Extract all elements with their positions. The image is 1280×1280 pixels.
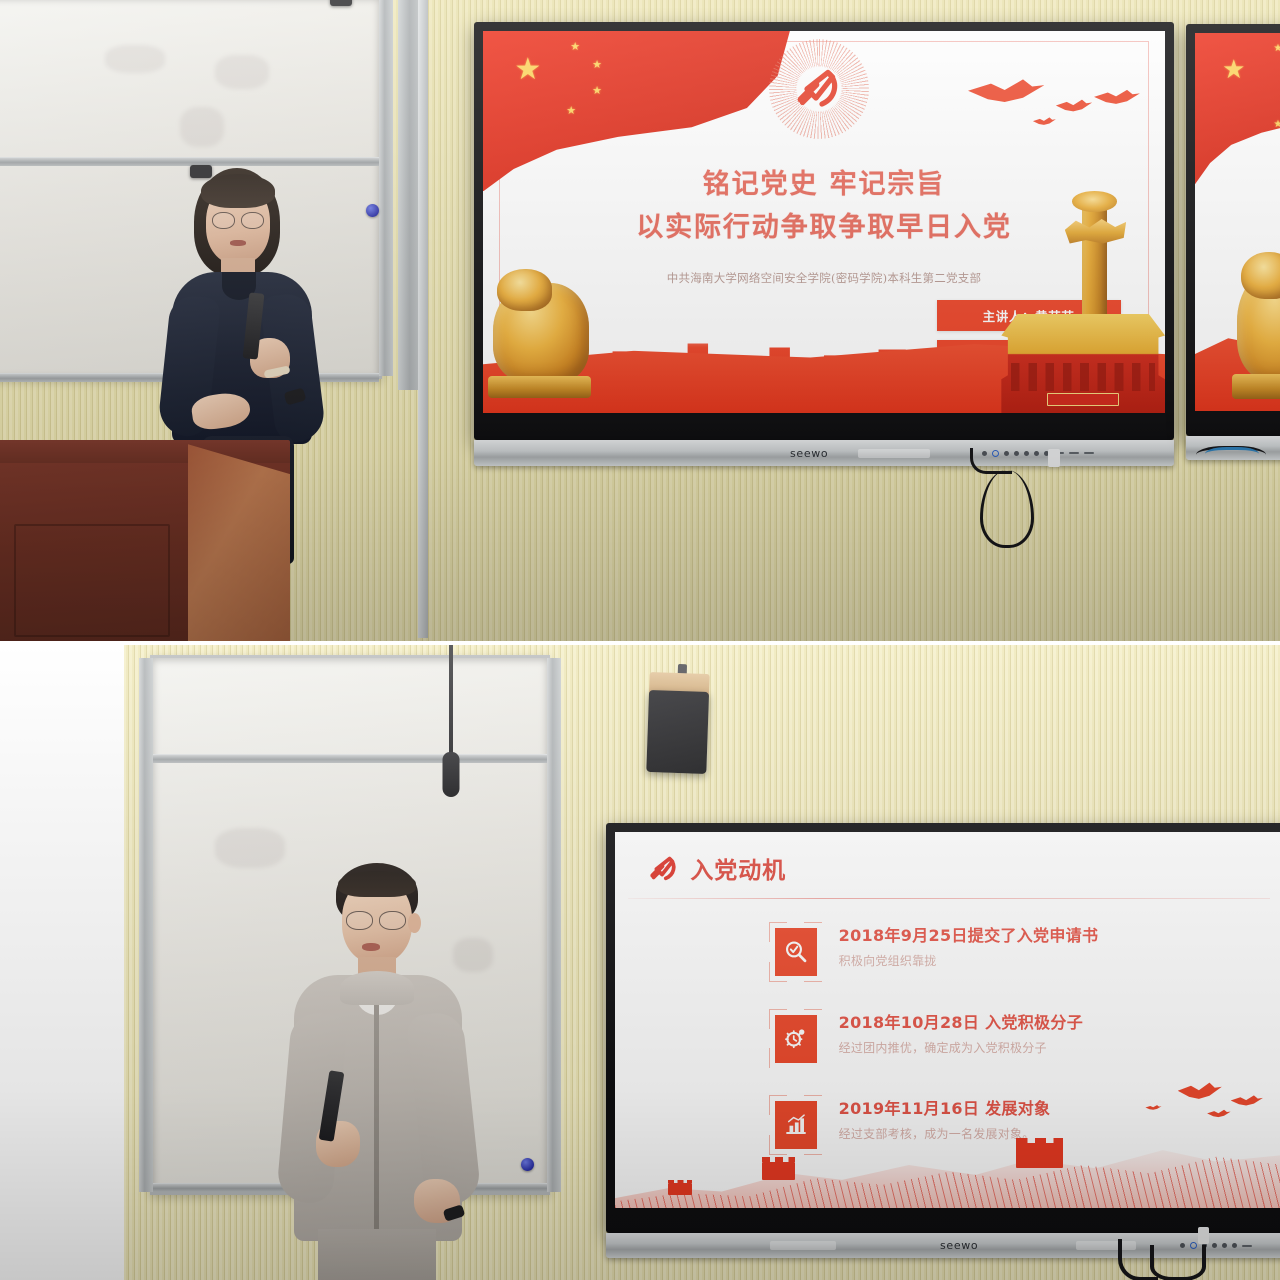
lens-right bbox=[241, 212, 264, 229]
glasses bbox=[212, 212, 264, 229]
microphone-rod bbox=[449, 645, 453, 759]
item-icon-frame bbox=[769, 1009, 823, 1069]
slide-organization: 中共海南大学网络空间安全学院(密码学院)本科生第二党支部 bbox=[483, 270, 1165, 286]
slide-title: 入党动机 bbox=[690, 851, 786, 885]
flag-star-small: ★ bbox=[566, 106, 576, 117]
guardian-lion-statue bbox=[1237, 267, 1280, 380]
flag-star-small: ★ bbox=[592, 60, 602, 71]
podium-slant bbox=[188, 444, 290, 645]
magnifier-check-icon bbox=[775, 928, 817, 976]
podium-panel bbox=[14, 524, 170, 637]
panel-margin bbox=[0, 645, 124, 1280]
timeline-item: 2018年9月25日提交了入党申请书 积极向党组织靠拢 bbox=[769, 922, 1099, 982]
wall-speaker bbox=[646, 672, 709, 774]
doves-icon bbox=[960, 69, 1151, 153]
whiteboard-rail bbox=[153, 754, 547, 763]
slide-header: 入党动机 bbox=[648, 851, 786, 885]
slide-motivation: 入党动机 bbox=[615, 832, 1280, 1208]
glasses bbox=[346, 911, 406, 930]
indicator-dot bbox=[1232, 1243, 1237, 1248]
whiteboard-frame bbox=[547, 658, 561, 1192]
wall-post bbox=[418, 0, 428, 638]
item-text: 2018年9月25日提交了入党申请书 积极向党组织靠拢 bbox=[839, 922, 1099, 969]
gear-clock-icon bbox=[775, 1015, 817, 1063]
indicator-dot bbox=[1024, 451, 1029, 456]
mouth bbox=[362, 943, 380, 951]
watchtower bbox=[762, 1162, 795, 1180]
watchtower bbox=[1016, 1143, 1063, 1168]
dove-icon bbox=[1056, 98, 1092, 116]
dove-icon bbox=[1094, 88, 1140, 110]
hammer-sickle-icon bbox=[648, 853, 678, 883]
photo-collage: ★ ★ ★ ★ ★ bbox=[0, 0, 1280, 1280]
watchtower bbox=[668, 1183, 692, 1195]
top-panel: ★ ★ ★ ★ ★ bbox=[0, 0, 1280, 645]
flag-star-large: ★ bbox=[1222, 56, 1245, 82]
slide-title-duplicate: ★ ★ ★ ★ ★ bbox=[1195, 33, 1280, 411]
male-student bbox=[258, 863, 488, 1280]
gate-plaque bbox=[1047, 393, 1119, 406]
item-heading: 2018年10月28日 入党积极分子 bbox=[839, 1009, 1083, 1033]
hair-fringe bbox=[338, 871, 416, 897]
hanging-microphone bbox=[440, 645, 462, 797]
indicator-bar bbox=[1069, 452, 1079, 454]
indicator-bar bbox=[1084, 452, 1094, 454]
marker-smudge bbox=[180, 107, 224, 147]
mouth bbox=[230, 240, 246, 246]
smartboard-secondary[interactable]: ★ ★ ★ ★ ★ bbox=[1186, 24, 1280, 436]
slide-title: ★ ★ ★ ★ ★ bbox=[483, 31, 1165, 413]
dove-icon bbox=[1178, 1080, 1222, 1105]
flag-star-small: ★ bbox=[1274, 44, 1280, 54]
marker-smudge bbox=[215, 55, 269, 89]
dove-icon bbox=[968, 76, 1044, 111]
lion-base bbox=[488, 376, 591, 398]
dove-icon bbox=[1145, 1104, 1161, 1111]
wooden-podium bbox=[0, 440, 290, 645]
flag-star-small: ★ bbox=[1274, 120, 1280, 130]
flag-star-small: ★ bbox=[570, 42, 580, 53]
indicator-dot bbox=[1222, 1243, 1227, 1248]
cable-clip bbox=[1048, 449, 1060, 467]
smartboard-screen[interactable]: ★ ★ ★ ★ ★ bbox=[483, 31, 1165, 413]
bezel-port bbox=[858, 449, 930, 458]
tiananmen-gate bbox=[1001, 314, 1165, 413]
smartboard-primary[interactable]: ★ ★ ★ ★ ★ bbox=[474, 22, 1174, 440]
flag-star-small: ★ bbox=[592, 86, 602, 97]
lion-head bbox=[497, 269, 552, 311]
bezel-port bbox=[770, 1241, 836, 1250]
item-text: 2018年10月28日 入党积极分子 经过团内推优，确定成为入党积极分子 bbox=[839, 1009, 1083, 1056]
cable-clip bbox=[1198, 1227, 1209, 1244]
guardian-lion-statue bbox=[493, 283, 588, 382]
smartboard-bezel: seewo bbox=[474, 440, 1174, 466]
lens-left bbox=[212, 212, 235, 229]
marker-smudge bbox=[105, 45, 165, 73]
indicator-bar bbox=[1242, 1245, 1252, 1247]
jacket-hem bbox=[318, 1229, 436, 1280]
blue-magnet bbox=[366, 204, 379, 217]
power-cable bbox=[1150, 1245, 1206, 1280]
hammer-sickle-icon bbox=[795, 65, 843, 113]
great-wall-illustration bbox=[615, 1125, 1280, 1208]
seewo-logo: seewo bbox=[940, 1239, 978, 1252]
item-heading: 2018年9月25日提交了入党申请书 bbox=[839, 922, 1099, 946]
seewo-logo: seewo bbox=[790, 447, 828, 460]
dove-icon bbox=[1207, 1109, 1231, 1121]
smartboard-primary[interactable]: 入党动机 bbox=[606, 823, 1280, 1233]
marker-smudge bbox=[215, 828, 285, 868]
network-cable bbox=[1205, 447, 1259, 464]
slide-title-line2: 以实际行动争取争取早日入党 bbox=[483, 212, 1165, 245]
whiteboard-rail bbox=[0, 157, 379, 166]
timeline-item: 2018年10月28日 入党积极分子 经过团内推优，确定成为入党积极分子 bbox=[769, 1009, 1083, 1069]
lens-right bbox=[379, 911, 406, 930]
dove-icon bbox=[1033, 116, 1056, 128]
whiteboard-frame bbox=[139, 658, 153, 1192]
whiteboard-frame bbox=[379, 0, 393, 376]
gate-pillars bbox=[1011, 363, 1155, 391]
bottom-panel: 入党动机 bbox=[0, 645, 1280, 1280]
item-caption: 经过团内推优，确定成为入党积极分子 bbox=[839, 1039, 1083, 1056]
indicator-dot bbox=[1014, 451, 1019, 456]
header-rule bbox=[628, 898, 1269, 899]
indicator-dot bbox=[1212, 1243, 1217, 1248]
lion-base bbox=[1232, 374, 1280, 399]
smartboard-screen-secondary[interactable]: ★ ★ ★ ★ ★ bbox=[1195, 33, 1280, 411]
item-icon-frame bbox=[769, 922, 823, 982]
lion-head bbox=[1241, 252, 1280, 300]
power-cable bbox=[970, 448, 1012, 474]
slide-title-line1: 铭记党史 牢记宗旨 bbox=[483, 169, 1165, 202]
whiteboard-clip bbox=[330, 0, 352, 6]
jacket-zipper bbox=[374, 1005, 379, 1241]
smartboard-screen[interactable]: 入党动机 bbox=[615, 832, 1280, 1208]
item-heading: 2019年11月16日 发展对象 bbox=[839, 1095, 1051, 1119]
item-caption: 积极向党组织靠拢 bbox=[839, 952, 1099, 969]
hammer-sickle-emblem bbox=[769, 39, 869, 139]
blue-magnet bbox=[521, 1158, 534, 1171]
lens-left bbox=[346, 911, 373, 930]
indicator-dot bbox=[1034, 451, 1039, 456]
flag-star-large: ★ bbox=[514, 55, 541, 85]
ear bbox=[408, 913, 421, 933]
huabiao-column bbox=[1082, 199, 1107, 329]
jacket-collar bbox=[340, 971, 414, 1005]
microphone-capsule bbox=[443, 752, 460, 797]
hair-fringe bbox=[201, 174, 275, 208]
speaker-body bbox=[646, 690, 709, 774]
wall-masonry bbox=[615, 1125, 1280, 1208]
dove-icon bbox=[1231, 1094, 1263, 1110]
